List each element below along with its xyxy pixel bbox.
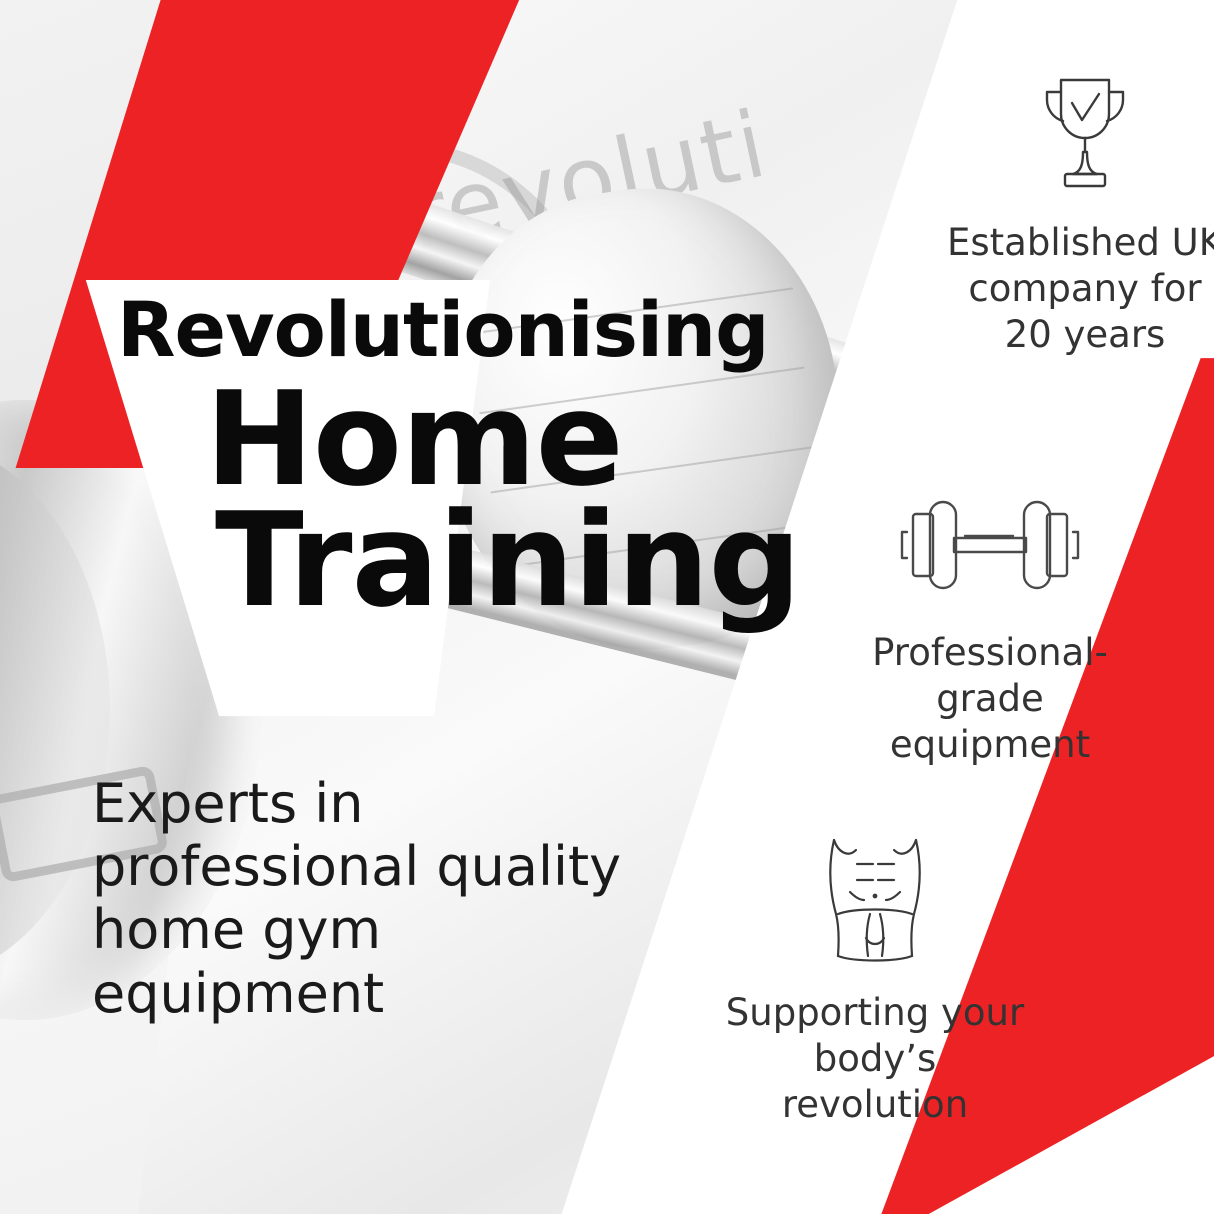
dumbbell-icon <box>840 470 1140 620</box>
feature-label: Supporting your body’s revolution <box>725 990 1025 1128</box>
torso-abs-icon <box>725 830 1025 980</box>
subheading-text: Experts in professional quality home gym… <box>92 772 672 1025</box>
feature-item-established: Established UK company for 20 years <box>940 60 1214 358</box>
feature-label: Established UK company for 20 years <box>940 220 1214 358</box>
feature-label: Professional-grade equipment <box>840 630 1140 768</box>
promo-banner: body revolution Revolutionising Home Tra… <box>0 0 1214 1214</box>
feature-item-body: Supporting your body’s revolution <box>725 830 1025 1128</box>
feature-list: Established UK company for 20 years Prof… <box>640 0 1214 1214</box>
trophy-check-icon <box>940 60 1214 210</box>
feature-item-equipment: Professional-grade equipment <box>840 470 1140 768</box>
